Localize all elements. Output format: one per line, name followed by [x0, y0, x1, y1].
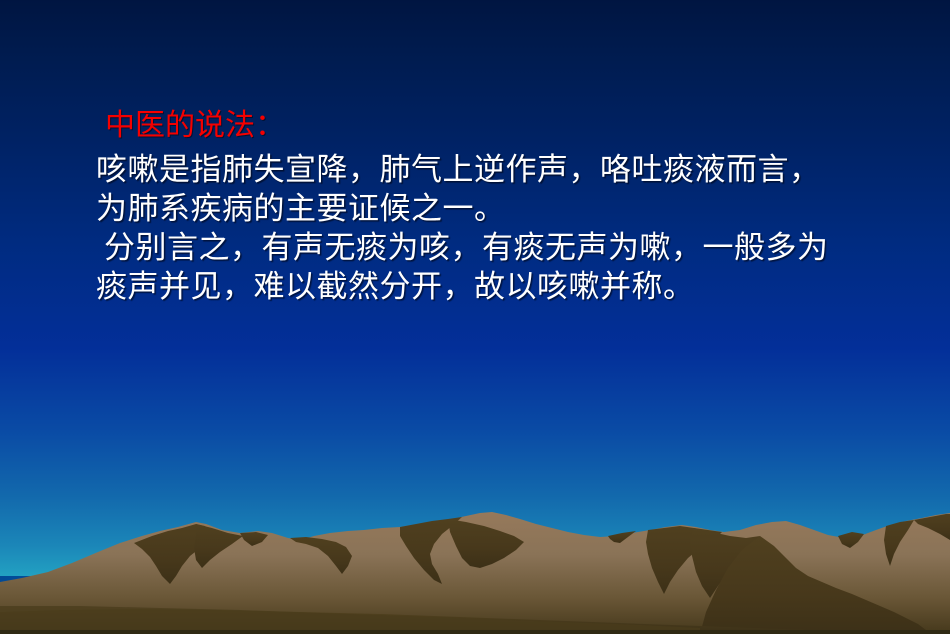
- presentation-slide: 中医的说法： 咳嗽是指肺失宣降，肺气上逆作声，咯吐痰液而言，为肺系疾病的主要证候…: [0, 0, 950, 634]
- slide-paragraph-definition: 咳嗽是指肺失宣降，肺气上逆作声，咯吐痰液而言，为肺系疾病的主要证候之一。: [96, 150, 836, 228]
- slide-text-content: 中医的说法： 咳嗽是指肺失宣降，肺气上逆作声，咯吐痰液而言，为肺系疾病的主要证候…: [0, 0, 950, 634]
- slide-paragraph-distinction: 分别言之，有声无痰为咳，有痰无声为嗽，一般多为痰声并见，难以截然分开，故以咳嗽并…: [96, 228, 836, 306]
- slide-heading: 中医的说法：: [105, 108, 285, 144]
